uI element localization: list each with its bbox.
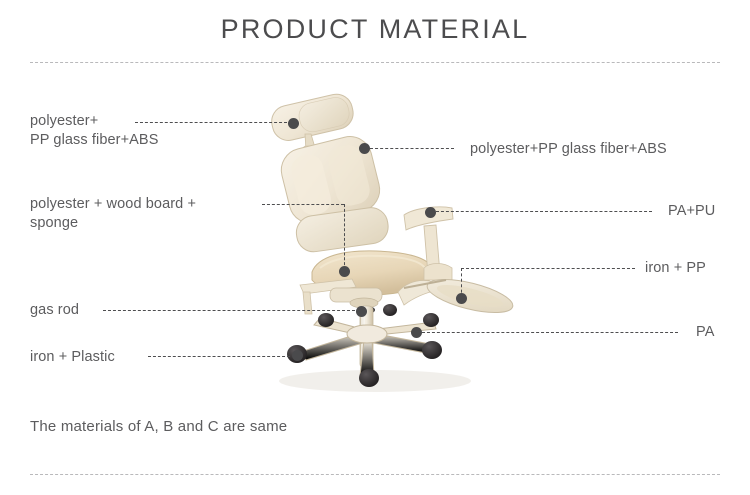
leader-line-caster <box>148 356 290 357</box>
chair-armrest-right <box>404 207 453 280</box>
callout-dot-headrest <box>288 118 299 129</box>
callout-dot-back-frame <box>359 143 370 154</box>
label-gas-rod: gas rod <box>30 301 79 320</box>
leader-line-back-frame <box>370 148 454 149</box>
divider-bottom <box>30 474 720 475</box>
callout-dot-caster <box>292 350 303 361</box>
label-headrest: polyester+ PP glass fiber+ABS <box>30 112 158 150</box>
label-backrest-board: polyester + wood board + sponge <box>30 195 196 233</box>
label-caster: iron + Plastic <box>30 348 115 367</box>
chair-casters <box>287 304 442 387</box>
leader-line-base <box>422 332 678 333</box>
product-material-page: PRODUCT MATERIAL <box>0 0 750 495</box>
footer-note: The materials of A, B and C are same <box>30 418 287 435</box>
leader-line-footrest <box>461 268 635 269</box>
leader-line-armrest <box>436 211 652 212</box>
label-footrest: iron + PP <box>645 259 706 278</box>
divider-top <box>30 62 720 63</box>
label-base: PA <box>696 323 714 342</box>
callout-dot-gas-rod <box>356 306 367 317</box>
chair-lumbar <box>294 205 390 253</box>
leader-line-backrest-board <box>262 204 344 205</box>
page-title: PRODUCT MATERIAL <box>0 14 750 45</box>
chair-armrest-left <box>300 279 356 314</box>
leader-line-gas-rod <box>103 310 355 311</box>
leader-line-backrest-board-vertical <box>344 204 345 270</box>
callout-dot-footrest <box>456 293 467 304</box>
label-back-frame: polyester+PP glass fiber+ABS <box>470 140 667 159</box>
callout-dot-armrest <box>425 207 436 218</box>
label-armrest: PA+PU <box>668 202 715 221</box>
chair-seat <box>312 251 433 295</box>
callout-dot-base <box>411 327 422 338</box>
callout-dot-backrest-board <box>339 266 350 277</box>
